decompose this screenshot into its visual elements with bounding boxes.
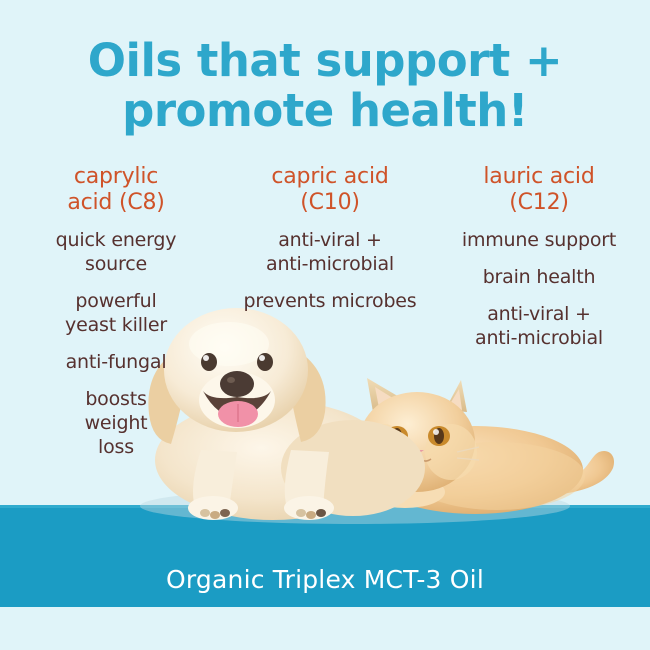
- benefit-item: boostsweightloss: [14, 387, 218, 459]
- column-heading-caprylic: caprylic acid (C8): [14, 164, 218, 216]
- benefit-columns: caprylic acid (C8) quick energysource po…: [0, 164, 650, 472]
- heading-line-2: acid (C8): [67, 190, 164, 215]
- heading-line-1: lauric acid: [483, 164, 594, 189]
- benefit-item: anti-viral +anti-microbial: [236, 228, 424, 276]
- benefit-item: anti-fungal: [14, 350, 218, 374]
- title-line-2: promote health!: [0, 86, 650, 136]
- heading-line-1: caprylic: [74, 164, 158, 189]
- column-heading-capric: capric acid (C10): [236, 164, 424, 216]
- benefit-item: powerfulyeast killer: [14, 289, 218, 337]
- page-title: Oils that support + promote health!: [0, 36, 650, 136]
- product-name-label: Organic Triplex MCT-3 Oil: [0, 505, 650, 607]
- benefit-item: brain health: [434, 265, 644, 289]
- benefit-item: prevents microbes: [236, 289, 424, 313]
- benefit-item: quick energysource: [14, 228, 218, 276]
- product-banner: Organic Triplex MCT-3 Oil: [0, 505, 650, 607]
- infographic-canvas: Oils that support + promote health! capr…: [0, 0, 650, 650]
- benefit-column-capric: capric acid (C10) anti-viral +anti-micro…: [232, 164, 428, 472]
- heading-line-2: (C12): [509, 190, 569, 215]
- benefit-item: immune support: [434, 228, 644, 252]
- heading-line-2: (C10): [300, 190, 360, 215]
- benefit-column-lauric: lauric acid (C12) immune support brain h…: [428, 164, 650, 472]
- heading-line-1: capric acid: [271, 164, 388, 189]
- benefit-item: anti-viral +anti-microbial: [434, 302, 644, 350]
- benefit-column-caprylic: caprylic acid (C8) quick energysource po…: [0, 164, 232, 472]
- column-heading-lauric: lauric acid (C12): [434, 164, 644, 216]
- title-line-1: Oils that support +: [0, 36, 650, 86]
